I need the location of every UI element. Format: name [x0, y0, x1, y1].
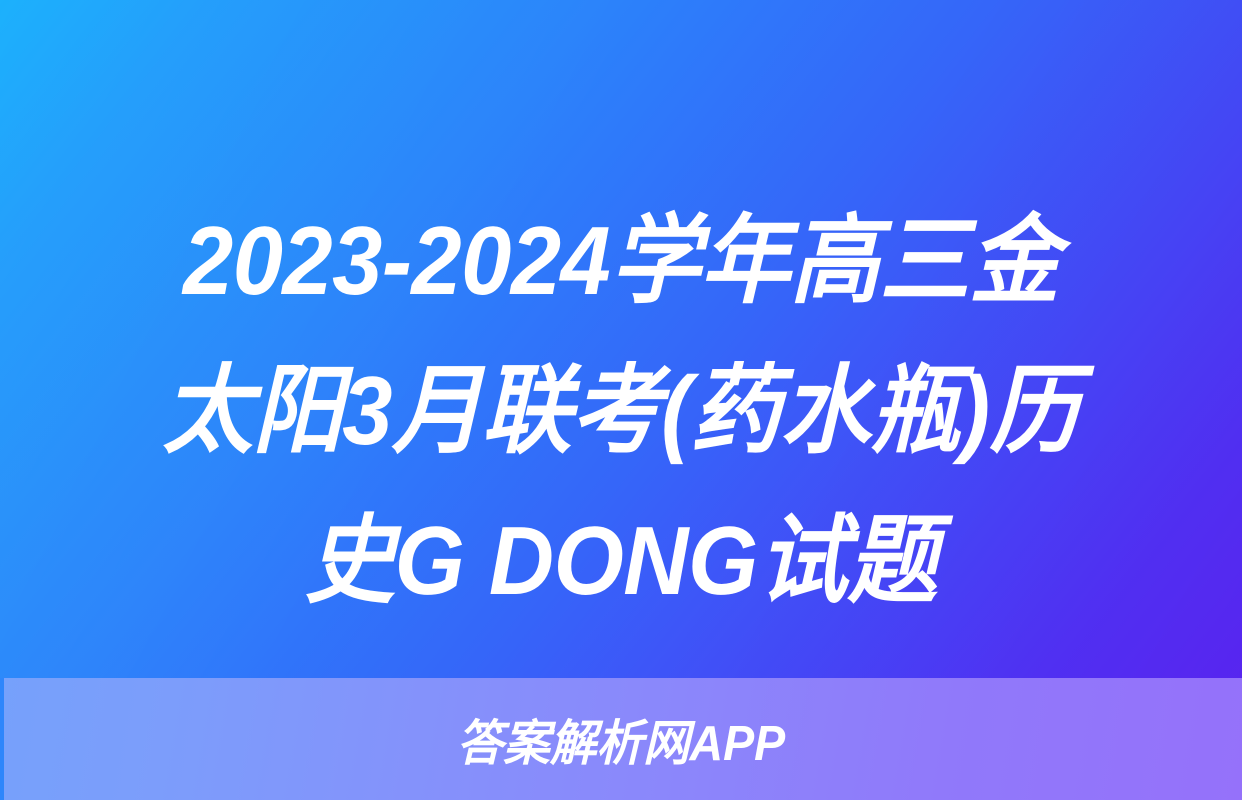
- hero-banner: 2023-2024学年高三金 太阳3月联考(药水瓶)历 史G DONG试题: [0, 0, 1242, 678]
- title-line-1: 2023-2024学年高三金: [43, 186, 1198, 336]
- title-line-3: 史G DONG试题: [43, 486, 1198, 636]
- footer-left-accent-bar: [0, 678, 4, 800]
- app-brand-label: 答案解析网APP: [31, 678, 1211, 800]
- poster-card: 2023-2024学年高三金 太阳3月联考(药水瓶)历 史G DONG试题 答案…: [0, 0, 1242, 800]
- title-line-2: 太阳3月联考(药水瓶)历: [43, 336, 1198, 486]
- footer-band: 答案解析网APP: [0, 678, 1242, 800]
- page-title: 2023-2024学年高三金 太阳3月联考(药水瓶)历 史G DONG试题: [43, 186, 1198, 636]
